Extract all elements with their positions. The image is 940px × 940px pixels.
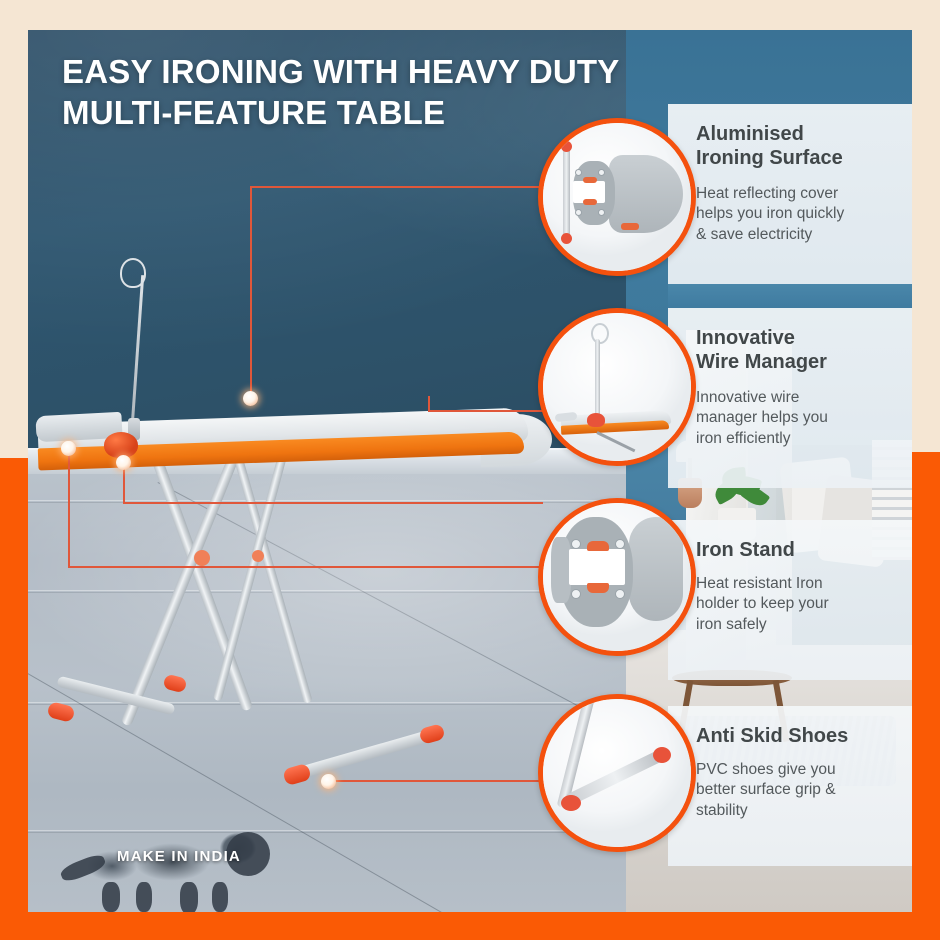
connector-line-feature-3: [68, 448, 70, 568]
callout-circle-iron-stand[interactable]: [538, 498, 696, 656]
frame-right-cream: [912, 0, 940, 455]
feature-panel-innovative-wire-manager[interactable]: Innovative Wire Manager Innovative wire …: [668, 308, 912, 488]
leg-pivot-joint: [194, 550, 210, 566]
frame-bottom-orange: [0, 912, 940, 940]
plate-backing: [551, 537, 571, 603]
connector-dot-feature-1: [243, 391, 258, 406]
title-line-1: EASY IRONING WITH HEAVY DUTY: [62, 52, 682, 93]
plate-clip: [583, 199, 597, 205]
panel-divider-band: [668, 284, 912, 308]
feature-title: Iron Stand: [696, 538, 904, 562]
feature-title: Anti Skid Shoes: [696, 724, 904, 748]
connector-line-feature-4: [328, 780, 560, 782]
plate-hole: [615, 589, 625, 599]
page-title: EASY IRONING WITH HEAVY DUTY MULTI-FEATU…: [62, 52, 682, 134]
callout-circle-anti-skid-shoes[interactable]: [538, 694, 696, 852]
callout-circle-aluminised-ironing-surface[interactable]: [538, 118, 696, 276]
anti-skid-shoe-tip: [561, 795, 581, 811]
board-underside: [629, 517, 683, 621]
plate-clip: [587, 541, 609, 551]
connector-dot-feature-4: [321, 774, 336, 789]
board-leg: [596, 431, 635, 452]
scene-canvas: EASY IRONING WITH HEAVY DUTY MULTI-FEATU…: [28, 30, 912, 912]
feature-title-line-1: Innovative: [696, 326, 904, 350]
make-in-india-label: MAKE IN INDIA: [94, 848, 264, 865]
feature-title-line-2: Ironing Surface: [696, 146, 904, 170]
plate-hole: [615, 539, 625, 549]
frame-top-cream: [0, 0, 940, 30]
plate-cutout: [569, 549, 625, 585]
callout-image-anti-skid-shoe: [543, 699, 691, 847]
feature-desc-line-2: helps you iron quickly: [696, 204, 904, 224]
lion-leg: [136, 882, 152, 912]
feature-desc-line-3: stability: [696, 801, 904, 821]
plate-hole: [571, 589, 581, 599]
feature-title: Innovative Wire Manager: [696, 326, 904, 375]
frame-left-orange: [0, 458, 28, 940]
feature-panel-stack: Aluminised Ironing Surface Heat reflecti…: [668, 30, 912, 912]
callout-circle-innovative-wire-manager[interactable]: [538, 308, 696, 466]
board-underside: [609, 155, 683, 233]
callout-image-ironing-surface: [543, 123, 691, 271]
lion-leg: [180, 882, 198, 912]
frame-left-cream: [0, 0, 28, 462]
connector-line-feature-3: [68, 566, 560, 568]
wire-manager-base-knob: [587, 413, 605, 427]
callout-image-iron-stand: [543, 503, 691, 651]
plate-clip: [583, 177, 597, 183]
make-in-india-badge: MAKE IN INDIA: [50, 812, 280, 912]
feature-desc-line-3: & save electricity: [696, 225, 904, 245]
callout-image-wire-manager: [543, 313, 691, 461]
frame-right-orange: [912, 452, 940, 940]
feature-desc-line-2: manager helps you: [696, 408, 904, 428]
feature-desc-line-1: PVC shoes give you: [696, 760, 904, 780]
rod-cap: [561, 233, 572, 244]
feature-description: Heat resistant Iron holder to keep your …: [696, 574, 904, 635]
feature-panel-anti-skid-shoes[interactable]: Anti Skid Shoes PVC shoes give you bette…: [668, 706, 912, 866]
connector-line-feature-1: [250, 186, 568, 188]
plate-clip: [587, 583, 609, 593]
feature-panel-aluminised-ironing-surface[interactable]: Aluminised Ironing Surface Heat reflecti…: [668, 104, 912, 284]
feature-title: Aluminised Ironing Surface: [696, 122, 904, 171]
feature-desc-line-2: better surface grip &: [696, 780, 904, 800]
feature-description: Innovative wire manager helps you iron e…: [696, 388, 904, 449]
feature-title-line-1: Aluminised: [696, 122, 904, 146]
lion-leg: [212, 882, 228, 912]
feature-description: PVC shoes give you better surface grip &…: [696, 760, 904, 821]
feature-desc-line-1: Innovative wire: [696, 388, 904, 408]
feature-title-line-2: Wire Manager: [696, 350, 904, 374]
support-rod: [563, 147, 570, 239]
connector-line-feature-1: [250, 186, 252, 398]
feature-description: Heat reflecting cover helps you iron qui…: [696, 184, 904, 245]
infographic-canvas: EASY IRONING WITH HEAVY DUTY MULTI-FEATU…: [0, 0, 940, 940]
board-pivot-knob: [104, 432, 138, 458]
board-clip: [621, 223, 639, 230]
feature-title-line-1: Iron Stand: [696, 538, 904, 562]
plate-hole: [575, 209, 582, 216]
feature-desc-line-3: iron safely: [696, 615, 904, 635]
connector-line-feature-3b: [123, 502, 543, 504]
feature-desc-line-1: Heat reflecting cover: [696, 184, 904, 204]
feature-desc-line-2: holder to keep your: [696, 594, 904, 614]
plate-hole: [598, 209, 605, 216]
wire-manager-rod: [595, 339, 600, 417]
wire-loop-icon: [591, 323, 609, 344]
connector-dot-feature-3: [61, 441, 76, 456]
feature-desc-line-1: Heat resistant Iron: [696, 574, 904, 594]
rod-cap: [561, 141, 572, 152]
ironing-board-assembly: [28, 370, 548, 490]
feature-panel-iron-stand[interactable]: Iron Stand Heat resistant Iron holder to…: [668, 520, 912, 680]
plate-hole: [575, 169, 582, 176]
feature-desc-line-3: iron efficiently: [696, 429, 904, 449]
lion-leg: [102, 882, 120, 912]
anti-skid-shoe-tip: [653, 747, 671, 763]
leg-pivot-joint: [252, 550, 264, 562]
plate-hole: [571, 539, 581, 549]
connector-line-feature-2: [428, 396, 430, 412]
plate-hole: [598, 169, 605, 176]
connector-dot-feature-3b: [116, 455, 131, 470]
feature-title-line-1: Anti Skid Shoes: [696, 724, 904, 748]
